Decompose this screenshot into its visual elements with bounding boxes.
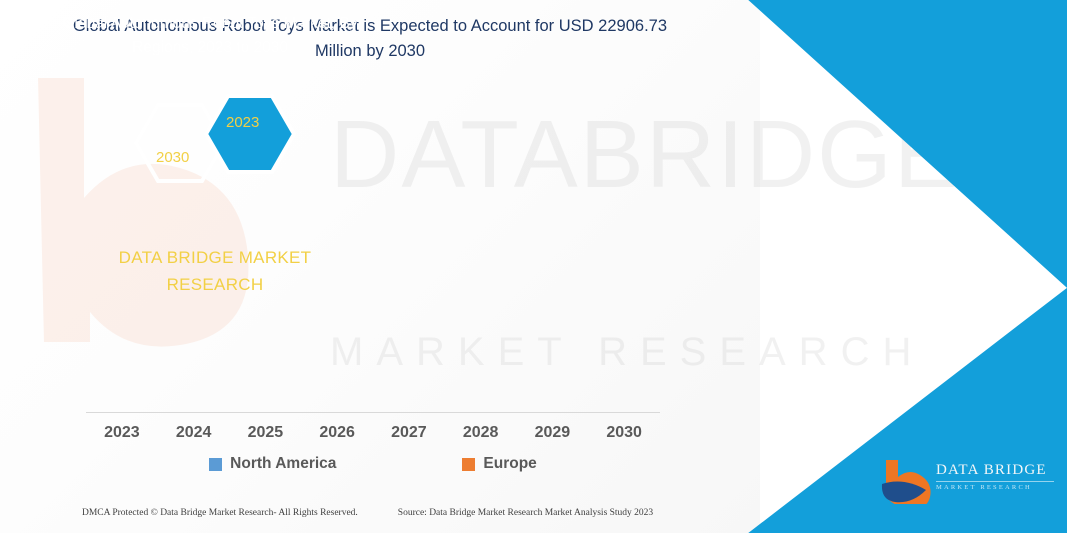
brand-name: DATA BRIDGE MARKET RESEARCH [90,244,340,298]
legend-swatch [462,458,475,471]
company-logo-tagline: MARKET RESEARCH [936,484,1054,491]
bar-column [517,90,589,413]
company-logo-mark [880,458,932,504]
hexagon-2023-label: 2023 [226,114,259,131]
side-panel-title: Global Autonomous Robot Toys Market, By … [60,12,360,60]
bar-column [588,90,660,413]
legend-swatch [209,458,222,471]
company-logo-name: DATA BRIDGE [936,462,1054,479]
x-tick-2025: 2025 [230,424,302,442]
footer-copyright: DMCA Protected © Data Bridge Market Rese… [82,508,358,518]
hexagon-2023-shape [206,96,294,172]
x-tick-2028: 2028 [445,424,517,442]
x-tick-2023: 2023 [86,424,158,442]
footer-source: Source: Data Bridge Market Research Mark… [398,508,653,518]
legend-item[interactable]: Europe [462,455,536,473]
bar-column [445,90,517,413]
company-logo-divider [936,481,1054,482]
chart-legend: North AmericaEurope [86,455,660,473]
infographic-root: DATABRIDGE MARKET RESEARCH Global Autono… [0,0,1067,533]
x-axis-tick-labels: 20232024202520262027202820292030 [86,424,660,442]
x-tick-2027: 2027 [373,424,445,442]
bar-column [373,90,445,413]
x-axis-line [86,412,660,413]
company-logo-text: DATA BRIDGE MARKET RESEARCH [936,462,1054,491]
legend-label: North America [230,455,336,473]
hexagon-2030-label: 2030 [156,149,189,166]
footer: DMCA Protected © Data Bridge Market Rese… [82,508,682,518]
company-logo: DATA BRIDGE MARKET RESEARCH [880,458,1050,504]
x-tick-2030: 2030 [588,424,660,442]
hexagon-group: 2030 2023 [130,88,360,198]
legend-label: Europe [483,455,536,473]
x-tick-2026: 2026 [301,424,373,442]
x-tick-2029: 2029 [517,424,589,442]
legend-item[interactable]: North America [209,455,336,473]
x-tick-2024: 2024 [158,424,230,442]
